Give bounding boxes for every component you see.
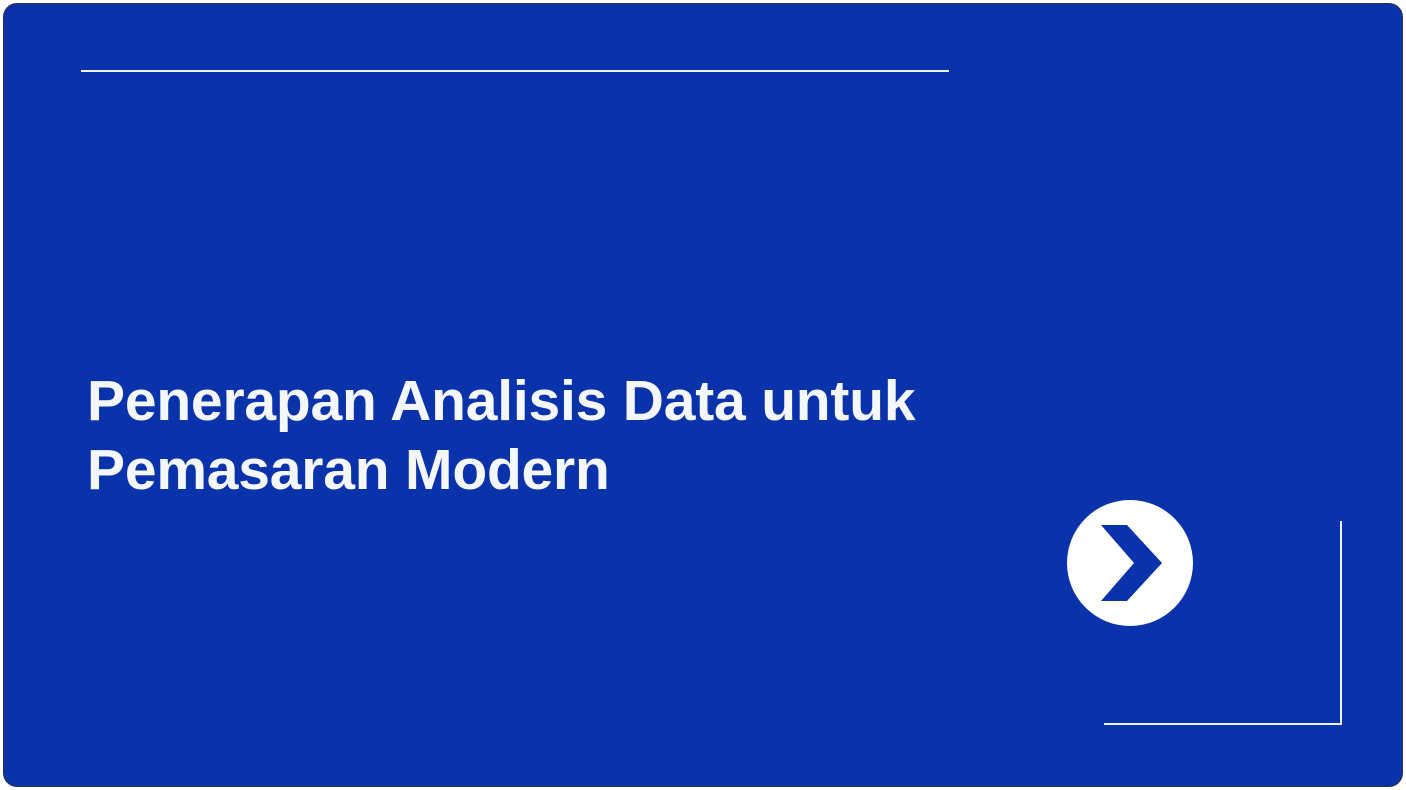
chevron-right-icon: [1065, 498, 1195, 628]
next-arrow-badge[interactable]: [1065, 498, 1195, 628]
corner-bracket-horizontal: [1104, 723, 1342, 725]
corner-bracket-vertical: [1340, 521, 1342, 725]
top-divider-rule: [81, 70, 949, 72]
slide-canvas: Penerapan Analisis Data untuk Pemasaran …: [0, 0, 1406, 790]
slide-surface: Penerapan Analisis Data untuk Pemasaran …: [3, 3, 1403, 787]
slide-title-line-2: Pemasaran Modern: [87, 436, 987, 505]
slide-title-line-1: Penerapan Analisis Data untuk: [87, 367, 987, 436]
slide-title: Penerapan Analisis Data untuk Pemasaran …: [87, 367, 987, 505]
